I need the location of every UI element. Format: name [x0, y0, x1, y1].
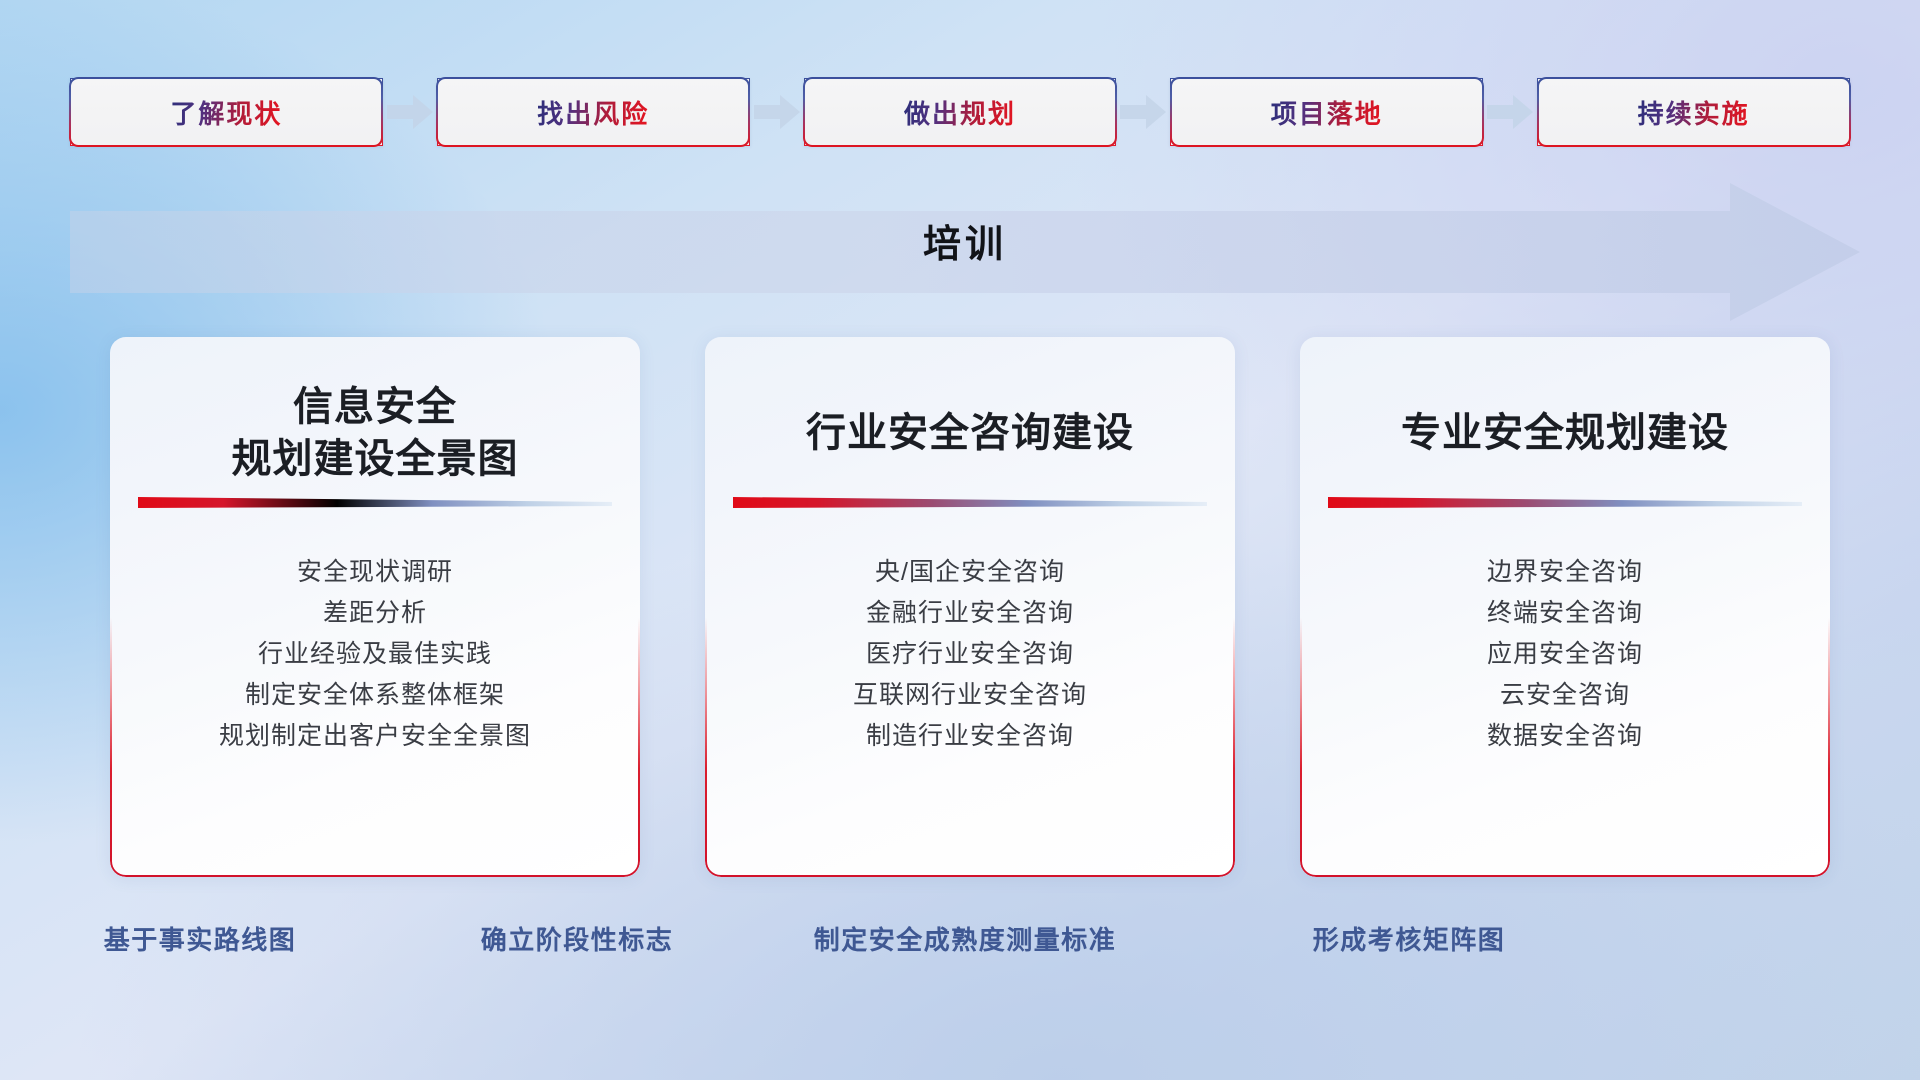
- list-item: 数据安全咨询: [1300, 716, 1830, 757]
- step-connector-arrow-icon-4: [1483, 92, 1537, 132]
- card-information-security-blueprint[interactable]: 信息安全 规划建设全景图: [110, 337, 640, 877]
- card-industry-security-consulting[interactable]: 行业安全咨询建设: [705, 337, 1235, 877]
- list-item: 制造行业安全咨询: [705, 716, 1235, 757]
- caption-row: 基于事实路线图 确立阶段性标志 制定安全成熟度测量标准 形成考核矩阵图: [0, 920, 1920, 966]
- list-item: 差距分析: [110, 593, 640, 634]
- card-3-divider: [1328, 495, 1802, 511]
- process-step-4-label: 项目落地: [1271, 94, 1383, 131]
- card-professional-security-planning[interactable]: 专业安全规划建设: [1300, 337, 1830, 877]
- step-connector-arrow-icon-3: [1116, 92, 1170, 132]
- training-banner-label: 培训: [70, 213, 1860, 268]
- list-item: 应用安全咨询: [1300, 634, 1830, 675]
- card-3-list: 边界安全咨询 终端安全咨询 应用安全咨询 云安全咨询 数据安全咨询: [1300, 552, 1830, 757]
- list-item: 边界安全咨询: [1300, 552, 1830, 593]
- process-step-3-label: 做出规划: [904, 94, 1016, 131]
- caption-assessment-matrix: 形成考核矩阵图: [1313, 920, 1506, 957]
- list-item: 互联网行业安全咨询: [705, 675, 1235, 716]
- card-1-list: 安全现状调研 差距分析 行业经验及最佳实践 制定安全体系整体框架 规划制定出客户…: [110, 552, 640, 757]
- card-1-title: 信息安全 规划建设全景图: [110, 337, 640, 485]
- process-step-2[interactable]: 找出风险: [437, 78, 750, 146]
- list-item: 行业经验及最佳实践: [110, 634, 640, 675]
- card-1-divider: [138, 495, 612, 511]
- process-step-5[interactable]: 持续实施: [1537, 78, 1850, 146]
- card-2-divider: [733, 495, 1207, 511]
- list-item: 规划制定出客户安全全景图: [110, 716, 640, 757]
- process-step-1[interactable]: 了解现状: [70, 78, 383, 146]
- card-3-title: 专业安全规划建设: [1300, 337, 1830, 459]
- list-item: 制定安全体系整体框架: [110, 675, 640, 716]
- list-item: 安全现状调研: [110, 552, 640, 593]
- card-2-title: 行业安全咨询建设: [705, 337, 1235, 459]
- list-item: 医疗行业安全咨询: [705, 634, 1235, 675]
- process-step-row: 了解现状 找出风险 做出规划 项目落地: [70, 78, 1850, 146]
- card-2-list: 央/国企安全咨询 金融行业安全咨询 医疗行业安全咨询 互联网行业安全咨询 制造行…: [705, 552, 1235, 757]
- process-step-2-label: 找出风险: [537, 94, 649, 131]
- process-step-3[interactable]: 做出规划: [804, 78, 1117, 146]
- list-item: 终端安全咨询: [1300, 593, 1830, 634]
- list-item: 央/国企安全咨询: [705, 552, 1235, 593]
- slide-canvas: 了解现状 找出风险 做出规划 项目落地: [0, 0, 1920, 1080]
- step-connector-arrow-icon-1: [383, 92, 437, 132]
- caption-roadmap: 基于事实路线图: [104, 920, 297, 957]
- process-step-5-label: 持续实施: [1638, 94, 1750, 131]
- caption-milestones: 确立阶段性标志: [481, 920, 674, 957]
- training-banner: 培训: [70, 183, 1860, 321]
- caption-maturity-standard: 制定安全成熟度测量标准: [814, 920, 1117, 957]
- card-row: 信息安全 规划建设全景图: [110, 337, 1830, 877]
- list-item: 金融行业安全咨询: [705, 593, 1235, 634]
- process-step-4[interactable]: 项目落地: [1170, 78, 1483, 146]
- step-connector-arrow-icon-2: [750, 92, 804, 132]
- process-step-1-label: 了解现状: [170, 94, 282, 131]
- list-item: 云安全咨询: [1300, 675, 1830, 716]
